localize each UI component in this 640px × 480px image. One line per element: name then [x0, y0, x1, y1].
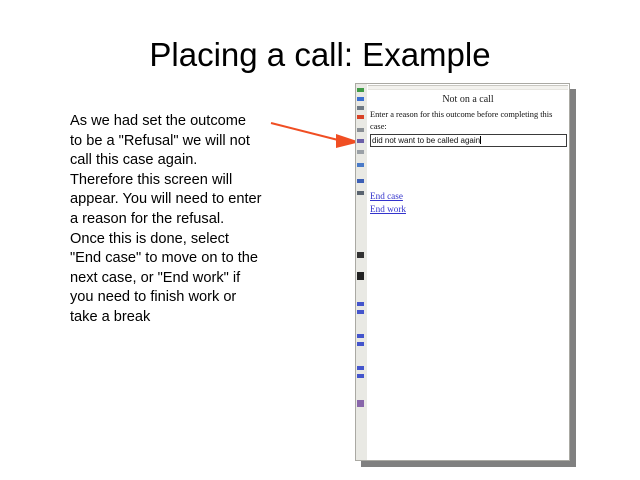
end-case-link[interactable]: End case [370, 190, 406, 203]
gutter-fragment [357, 97, 364, 101]
gutter-fragment [357, 366, 364, 370]
gutter-fragment [357, 150, 364, 154]
reason-input-value: did not want to be called again [372, 136, 480, 145]
end-work-link[interactable]: End work [370, 203, 406, 216]
gutter-fragment [357, 252, 364, 258]
annotation-arrow-icon [270, 118, 362, 152]
gutter-fragment [357, 191, 364, 195]
gutter-fragment [357, 106, 364, 110]
reason-input[interactable]: did not want to be called again [370, 134, 567, 147]
gutter-fragment [357, 179, 364, 183]
text-caret [480, 136, 481, 144]
page-left-gutter [356, 84, 367, 461]
gutter-fragment [357, 115, 364, 119]
gutter-fragment [357, 342, 364, 346]
gutter-fragment [357, 334, 364, 338]
gutter-fragment [357, 310, 364, 314]
slide-body-text: As we had set the outcome to be a "Refus… [70, 112, 262, 328]
app-page-body: Not on a call Enter a reason for this ou… [368, 90, 568, 460]
gutter-fragment [357, 163, 364, 167]
gutter-fragment [357, 128, 364, 132]
gutter-fragment [357, 139, 364, 143]
embedded-app-screenshot: Not on a call Enter a reason for this ou… [355, 83, 570, 461]
app-instruction-text: Enter a reason for this outcome before c… [370, 109, 570, 132]
app-heading: Not on a call [368, 94, 568, 105]
gutter-fragment [357, 88, 364, 92]
gutter-fragment [357, 302, 364, 306]
page-title: Placing a call: Example [0, 36, 640, 74]
gutter-fragment [357, 272, 364, 280]
gutter-fragment [357, 374, 364, 378]
gutter-fragment [357, 400, 364, 407]
app-action-links: End case End work [370, 190, 406, 215]
